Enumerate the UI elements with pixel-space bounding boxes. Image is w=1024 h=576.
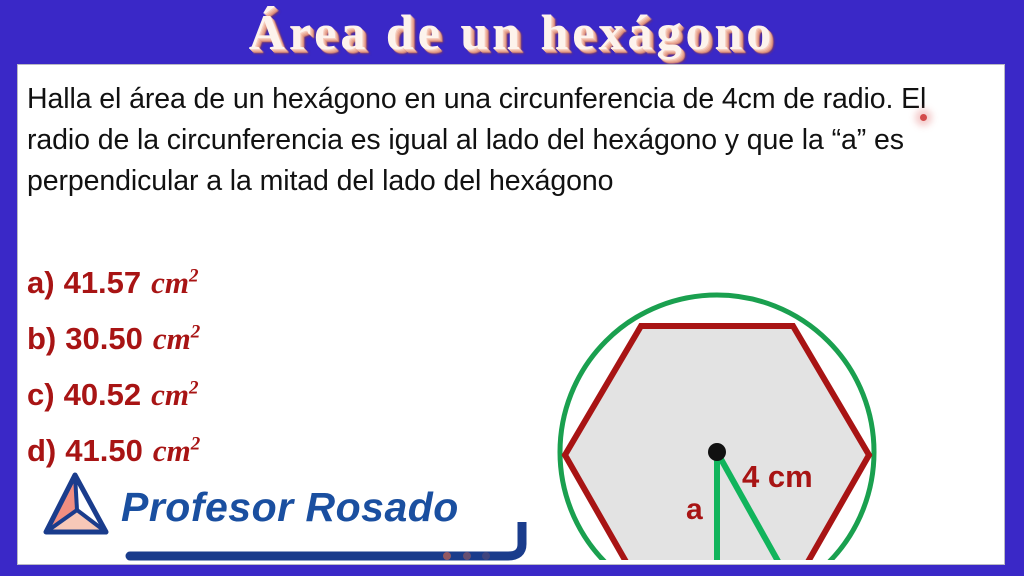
brand-watermark: Profesor Rosado (36, 468, 556, 563)
slide-title-bar: Área de un hexágono (0, 0, 1024, 64)
brand-underline-swoosh (114, 522, 534, 565)
option-key: a) (27, 265, 55, 301)
option-unit: cm2 (151, 377, 198, 413)
unit-exponent: 2 (189, 378, 199, 399)
hexagon-figure: a 4 cm (538, 230, 918, 560)
tetrahedron-logo-svg (36, 470, 114, 540)
option-key: b) (27, 321, 56, 357)
brand-swoosh-svg (114, 522, 534, 562)
unit-text: cm (153, 321, 191, 356)
answer-option-b[interactable]: b) 30.50 cm2 (27, 311, 457, 367)
option-key: d) (27, 433, 56, 469)
unit-text: cm (153, 433, 191, 468)
option-unit: cm2 (153, 321, 200, 357)
logo-inner-edge-top (75, 475, 77, 510)
option-value: 40.52 (64, 377, 142, 413)
laser-trail-dot-2 (463, 552, 471, 560)
laser-trail-dot-3 (482, 552, 490, 560)
unit-exponent: 2 (191, 322, 201, 343)
answer-options-list: a) 41.57 cm2 b) 30.50 cm2 c) 40.52 cm2 d… (27, 255, 457, 479)
apothem-label: a (686, 493, 703, 527)
option-unit: cm2 (151, 265, 198, 301)
unit-exponent: 2 (191, 434, 201, 455)
problem-statement: Halla el área de un hexágono en una circ… (27, 79, 989, 202)
slide-root: Área de un hexágono Halla el área de un … (0, 0, 1024, 576)
content-panel: Halla el área de un hexágono en una circ… (17, 64, 1005, 565)
swoosh-path (130, 522, 522, 556)
center-point-dot (708, 443, 726, 461)
option-value: 30.50 (65, 321, 143, 357)
hexagon-diagram-svg (538, 230, 918, 560)
unit-text: cm (151, 265, 189, 300)
page-title: Área de un hexágono (249, 3, 776, 61)
option-key: c) (27, 377, 55, 413)
option-value: 41.50 (65, 433, 143, 469)
answer-option-c[interactable]: c) 40.52 cm2 (27, 367, 457, 423)
answer-option-a[interactable]: a) 41.57 cm2 (27, 255, 457, 311)
laser-trail-dot-1 (443, 552, 451, 560)
unit-text: cm (151, 377, 189, 412)
radius-label: 4 cm (742, 459, 813, 495)
option-unit: cm2 (153, 433, 200, 469)
option-value: 41.57 (64, 265, 142, 301)
tetrahedron-logo (36, 470, 114, 545)
unit-exponent: 2 (189, 266, 199, 287)
